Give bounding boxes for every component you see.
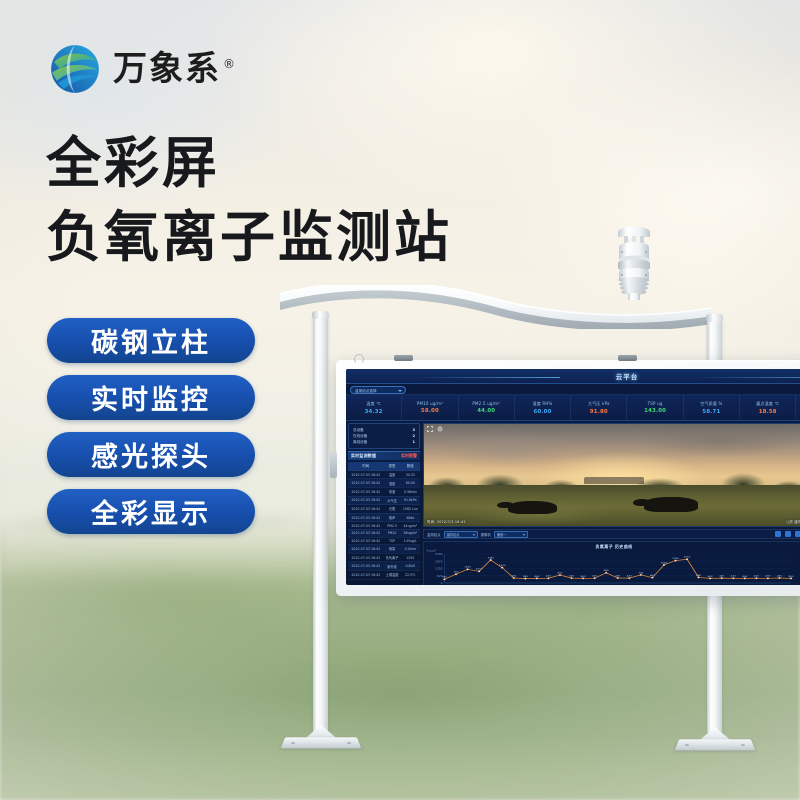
table-cell: 风速: [384, 487, 401, 496]
table-cell: 2022-07-03 16:42: [348, 513, 384, 522]
column-header-type: 类型: [384, 462, 401, 470]
table-cell: 1582 Lux: [401, 505, 420, 514]
metric-value: 143.00: [644, 408, 666, 414]
trademark-symbol: ®: [223, 57, 235, 71]
svg-text:430: 430: [777, 575, 783, 578]
svg-text:420: 420: [569, 575, 575, 578]
base-bolt: [291, 742, 295, 744]
svg-text:410: 410: [546, 575, 552, 578]
svg-text:1250: 1250: [435, 567, 443, 571]
table-row[interactable]: 2022-07-03 16:42TSP143ug/L: [348, 537, 420, 545]
svg-text:415: 415: [754, 575, 760, 578]
svg-text:1180: 1180: [464, 566, 471, 569]
metric-tsp: TSP ug 143.00: [627, 395, 683, 420]
base-plate-right: [677, 731, 753, 751]
feature-pill-label: 实时监控: [91, 378, 211, 417]
page-title: 云平台: [616, 371, 639, 381]
svg-text:320: 320: [442, 576, 448, 579]
feature-pill-label: 全彩显示: [91, 492, 211, 531]
svg-text:400: 400: [581, 575, 587, 578]
table-cell: 温度: [384, 470, 401, 479]
metric-label: 空气质量 %: [700, 401, 722, 407]
svg-text:480: 480: [696, 574, 702, 577]
metric-label: PM10 ug/m³: [417, 401, 443, 406]
feature-pill-light-sensor: 感光探头: [47, 432, 255, 477]
cow-silhouette: [644, 497, 697, 511]
metric-value: 58.00: [421, 408, 439, 414]
title-deco-right: [694, 377, 800, 378]
video-buttons: [775, 531, 800, 537]
metric-value: 60.00: [534, 409, 552, 415]
post-cap-right: [706, 314, 723, 322]
dashboard-screen: 云平台 监测站点选择 2022/7/3 16:42 退出 温度 ℃ 34.32 …: [346, 369, 800, 585]
camera-dropdown[interactable]: 通道一: [494, 531, 528, 538]
table-cell: PM2.5: [384, 522, 401, 530]
table-cell: 44ug/m³: [401, 522, 420, 530]
table-cell: 大气压: [384, 496, 401, 505]
metric-value: 58.71: [702, 409, 720, 415]
dashboard-body: 总设备 3 在线设备 2 离线设备 1: [346, 421, 800, 585]
table-row[interactable]: 2022-07-03 16:42温度34.32: [348, 470, 420, 479]
svg-text:2050: 2050: [684, 556, 691, 559]
control-label-camera: 摄像机: [481, 532, 491, 537]
svg-text:400: 400: [742, 575, 748, 578]
svg-text:1560: 1560: [661, 562, 668, 565]
table-row[interactable]: 2022-07-03 16:42雨量0.0mm: [348, 545, 420, 554]
table-cell: 2022-07-03 16:42: [348, 470, 384, 479]
feature-pill-label: 感光探头: [91, 435, 211, 474]
metric-air-quality: 空气质量 % 58.71: [684, 395, 740, 420]
feature-pill-list: 碳钢立柱 实时监控 感光探头 全彩显示: [47, 318, 255, 534]
station-dropdown[interactable]: 潍坊站点: [444, 531, 478, 538]
table-cell: 91.8kPa: [401, 496, 420, 505]
base-bolt: [347, 742, 351, 744]
dashboard-subbar: 监测站点选择 2022/7/3 16:42 退出: [346, 384, 800, 395]
table-cell: 湿度: [384, 479, 401, 488]
metric-label: 温度 ℃: [366, 401, 381, 407]
expand-icon[interactable]: [427, 426, 433, 432]
metric-pressure: 大气压 kPa 91.80: [571, 395, 627, 420]
table-cell: 2022-07-03 16:42: [348, 553, 384, 562]
cow-silhouette: [508, 501, 557, 514]
play-button[interactable]: [775, 531, 781, 537]
metric-dew-point: 露点温度 ℃ 18.58: [740, 395, 796, 420]
column-header-value: 数值: [401, 462, 420, 470]
metric-label: TSP ug: [648, 401, 663, 406]
table-cell: 土壤温度: [384, 570, 401, 579]
video-feed[interactable]: 时间: 2022/7/3 16:42 山东 潍坊: [423, 423, 800, 527]
mount-tab-center: [618, 355, 637, 361]
globe-logo-icon: [48, 42, 102, 96]
svg-text:410: 410: [731, 575, 737, 578]
metric-label: 湿度 RH%: [533, 401, 553, 407]
monitor-bezel: 云平台 监测站点选择 2022/7/3 16:42 退出 温度 ℃ 34.32 …: [336, 360, 800, 596]
svg-text:400: 400: [789, 575, 795, 578]
post-cap-left: [312, 311, 329, 319]
table-cell: 负氧离子: [384, 553, 401, 562]
dashboard-titlebar: 云平台: [346, 369, 800, 384]
table-cell: 58ug/m³: [401, 529, 420, 537]
snapshot-icon[interactable]: [437, 426, 443, 432]
table-cell: 2022-07-03 16:42: [348, 529, 384, 537]
table-row[interactable]: 2022-07-03 16:42噪声48db: [348, 513, 420, 522]
table-cell: 2022-07-03 16:42: [348, 570, 384, 579]
metric-value: 91.80: [590, 409, 608, 415]
svg-text:430: 430: [615, 575, 621, 578]
table-row[interactable]: 2022-07-03 16:42湿度60.00: [348, 479, 420, 488]
svg-text:880: 880: [604, 569, 610, 572]
feature-pill-full-color-display: 全彩显示: [47, 489, 255, 534]
table-cell: 2022-07-03 16:42: [348, 545, 384, 554]
table-row[interactable]: 2022-07-03 16:42大气压91.8kPa: [348, 496, 420, 505]
video-overlay-icons: [427, 426, 443, 432]
fullscreen-button[interactable]: [795, 531, 800, 537]
table-cell: 2022-07-03 16:42: [348, 479, 384, 488]
left-panel: 总设备 3 在线设备 2 离线设备 1: [346, 421, 422, 585]
svg-text:1320: 1320: [499, 564, 506, 567]
svg-text:1980: 1980: [487, 557, 494, 560]
svg-text:400: 400: [534, 575, 540, 578]
video-ground-layer: [424, 485, 800, 526]
table-cell: PM10: [384, 529, 401, 537]
metric-value: 18.58: [759, 409, 777, 415]
svg-text:2500: 2500: [435, 553, 443, 557]
summary-value: 1: [412, 439, 415, 445]
table-cell: 2022-07-03 16:42: [348, 562, 384, 571]
svg-text:400: 400: [708, 575, 714, 578]
table-cell: 0.0mm: [401, 545, 420, 554]
table-row[interactable]: 2022-07-03 16:42PM1058ug/m³: [348, 529, 420, 537]
table-body: 2022-07-03 16:42温度34.322022-07-03 16:42湿…: [348, 470, 420, 579]
table-cell: TSP: [384, 537, 401, 545]
headline-block: 全彩屏 负氧离子监测站: [46, 126, 452, 274]
table-cell: 48db: [401, 513, 420, 522]
table-row[interactable]: 2022-07-03 16:42光照1582 Lux: [348, 505, 420, 514]
table-cell: 60.00: [401, 479, 420, 488]
metric-pm25: PM2.5 ug/m³ 44.00: [459, 395, 515, 420]
svg-text:420: 420: [627, 575, 633, 578]
table-cell: 1250: [401, 553, 420, 562]
metric-temperature: 温度 ℃ 34.32: [346, 395, 402, 420]
title-deco-left: [413, 377, 559, 378]
metric-strip: 温度 ℃ 34.32 PM10 ug/m³ 58.00 PM2.5 ug/m³ …: [346, 395, 800, 421]
mount-ring-left: [354, 354, 364, 364]
table-row[interactable]: 2022-07-03 16:42土壤温度22.5℃: [348, 570, 420, 579]
base-bolt: [685, 744, 689, 746]
svg-text:760: 760: [454, 571, 460, 574]
table-cell: 2022-07-03 16:42: [348, 487, 384, 496]
table-cell: 紫外线: [384, 562, 401, 571]
svg-text:690: 690: [557, 572, 563, 575]
product-marketing-scene: 万象系® 全彩屏 负氧离子监测站 碳钢立柱 实时监控 感光探头 全彩显示: [0, 0, 800, 800]
table-header-row: 时间 类型 数值: [348, 462, 420, 470]
station-select[interactable]: 监测站点选择: [350, 386, 406, 394]
metric-label: 大气压 kPa: [588, 401, 610, 407]
table-cell: 0.8UV: [401, 562, 420, 571]
metric-noise: 噪声 db 48.00: [796, 395, 800, 420]
svg-text:420: 420: [719, 575, 725, 578]
metric-value: 34.32: [365, 409, 383, 415]
table-cell: 34.32: [401, 470, 420, 479]
table-cell: 2022-07-03 16:42: [348, 537, 384, 545]
table-cell: 2022-07-03 16:42: [348, 522, 384, 530]
table-cell: 2022-07-03 16:42: [348, 496, 384, 505]
pause-button[interactable]: [785, 531, 791, 537]
realtime-data-table: 时间 类型 数值 2022-07-03 16:42温度34.322022-07-…: [348, 462, 420, 580]
base-bolt: [741, 744, 745, 746]
headline-line-2: 负氧离子监测站: [46, 200, 452, 274]
table-cell: 22.5℃: [401, 570, 420, 579]
svg-text:460: 460: [650, 574, 656, 577]
svg-text:700: 700: [638, 572, 644, 575]
metric-value: 44.00: [477, 408, 495, 414]
table-row[interactable]: 2022-07-03 16:42负氧离子1250: [348, 553, 420, 562]
feature-pill-label: 碳钢立柱: [91, 321, 211, 360]
table-cell: 雨量: [384, 545, 401, 554]
table-cell: 143ug/L: [401, 537, 420, 545]
brand-name-text: 万象系: [113, 49, 221, 89]
negative-ion-line-chart: 0625125018752500320760118010101980132043…: [427, 550, 800, 585]
headline-line-1: 全彩屏: [46, 126, 452, 200]
feature-pill-realtime-monitoring: 实时监控: [47, 375, 255, 420]
video-timestamp: 时间: 2022/7/3 16:42: [427, 519, 466, 524]
metric-pm10: PM10 ug/m³ 58.00: [402, 395, 458, 420]
realtime-alarm-badge[interactable]: 实时报警: [401, 453, 417, 459]
table-row[interactable]: 2022-07-03 16:42风速0.38m/s: [348, 487, 420, 496]
brand-lockup: 万象系®: [48, 42, 235, 96]
ultrasonic-weather-sensor-icon: [608, 222, 660, 300]
svg-text:1930: 1930: [672, 557, 679, 560]
table-cell: 噪声: [384, 513, 401, 522]
svg-text:1010: 1010: [476, 568, 483, 571]
svg-text:1875: 1875: [435, 560, 443, 564]
table-cell: 2022-07-03 16:42: [348, 505, 384, 514]
device-summary-box: 总设备 3 在线设备 2 离线设备 1: [348, 423, 420, 449]
svg-text:380: 380: [523, 575, 529, 578]
summary-row: 离线设备 1: [353, 439, 415, 445]
mount-tab-left: [394, 355, 413, 361]
svg-text:405: 405: [765, 575, 771, 578]
column-header-time: 时间: [348, 462, 384, 470]
control-label-station: 监测站点: [427, 532, 441, 537]
chart-ylabel: 个/cm³: [426, 549, 436, 553]
brand-name: 万象系®: [113, 52, 235, 86]
left-panel-title: 实时监测数据: [351, 453, 376, 459]
metric-label: 露点温度 ℃: [756, 401, 779, 407]
video-control-bar: 监测站点 潍坊站点 摄像机 通道一: [423, 529, 800, 539]
table-cell: 0.38m/s: [401, 487, 420, 496]
center-panel: 时间: 2022/7/3 16:42 山东 潍坊 监测站点 潍坊站点 摄像机 通…: [422, 421, 800, 585]
svg-text:430: 430: [511, 575, 517, 578]
summary-label: 离线设备: [353, 439, 367, 445]
table-cell: 光照: [384, 505, 401, 514]
feature-pill-carbon-steel: 碳钢立柱: [47, 318, 255, 363]
metric-humidity: 湿度 RH% 60.00: [515, 395, 571, 420]
metric-label: PM2.5 ug/m³: [472, 401, 500, 406]
video-watermark: 山东 潍坊: [786, 519, 800, 524]
support-post-left: [313, 315, 328, 733]
table-row[interactable]: 2022-07-03 16:42PM2.544ug/m³: [348, 522, 420, 530]
svg-text:0: 0: [441, 582, 443, 585]
side-bracket-left: [330, 452, 337, 478]
table-row[interactable]: 2022-07-03 16:42紫外线0.8UV: [348, 562, 420, 571]
history-chart-panel: 负氧离子 历史曲线 个/cm³ 062512501875250032076011…: [423, 541, 800, 585]
left-panel-header: 实时监测数据 实时报警: [348, 451, 420, 460]
base-plate-left: [283, 729, 359, 749]
svg-text:415: 415: [592, 575, 598, 578]
